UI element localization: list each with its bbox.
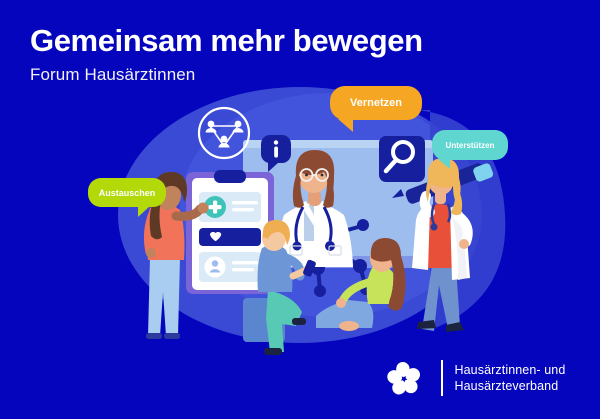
page-title: Gemeinsam mehr bewegen — [30, 24, 423, 58]
five-petal-pinwheel-icon — [381, 355, 427, 401]
bubble-unterstuetzen-label: Unterstützen — [446, 141, 495, 150]
bubble-vernetzen: Vernetzen — [330, 86, 422, 120]
brand-logo: Hausärztinnen- und Hausärzteverband — [381, 355, 565, 401]
bubble-unterstuetzen: Unterstützen — [432, 130, 508, 160]
bubble-tail — [338, 119, 353, 132]
search-icon — [379, 136, 425, 182]
bubble-austauschen-label: Austauschen — [99, 188, 156, 198]
bubble-vernetzen-label: Vernetzen — [350, 97, 402, 109]
bubble-tail — [138, 206, 150, 217]
patient-avatar-icon — [205, 257, 226, 278]
logo-divider — [441, 360, 443, 396]
logo-line-1: Hausärztinnen- und — [455, 362, 566, 378]
bubble-tail — [438, 159, 450, 169]
logo-text: Hausärztinnen- und Hausärzteverband — [455, 362, 566, 394]
poster: Gemeinsam mehr bewegen Forum Hausärztinn… — [0, 0, 600, 419]
page-subtitle: Forum Hausärztinnen — [30, 65, 423, 85]
bubble-austauschen: Austauschen — [88, 178, 166, 207]
headline-block: Gemeinsam mehr bewegen Forum Hausärztinn… — [30, 24, 423, 85]
logo-line-2: Hausärzteverband — [455, 378, 566, 394]
